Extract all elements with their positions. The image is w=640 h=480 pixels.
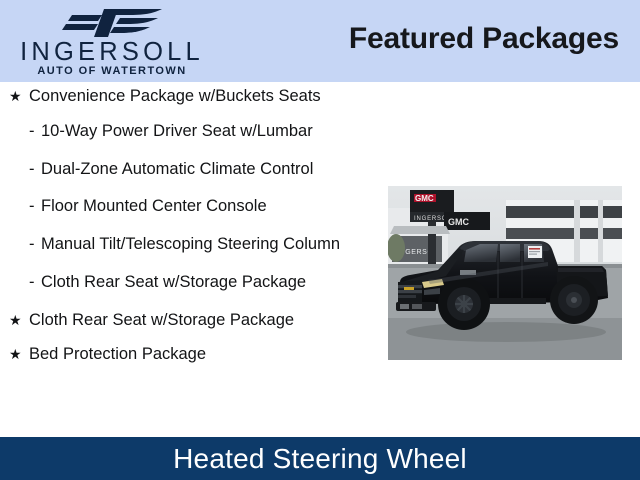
dash-icon: - — [29, 121, 35, 142]
dash-icon: - — [29, 272, 35, 293]
list-item-label: 10-Way Power Driver Seat w/Lumbar — [29, 121, 378, 142]
list-item: ★ Bed Protection Package — [0, 344, 378, 365]
page-title: Featured Packages — [349, 21, 619, 57]
footer-banner-text: Heated Steering Wheel — [173, 445, 467, 473]
dash-icon: - — [29, 159, 35, 180]
list-item: ★ Cloth Rear Seat w/Storage Package — [0, 310, 378, 331]
star-icon: ★ — [9, 344, 22, 364]
list-item-label: Cloth Rear Seat w/Storage Package — [29, 272, 378, 293]
footer-banner: Heated Steering Wheel — [0, 437, 640, 480]
vehicle-photo: INGERSO GMC INGERSOLL GMC — [388, 186, 622, 360]
list-item: - Manual Tilt/Telescoping Steering Colum… — [0, 234, 378, 255]
list-item-label: Floor Mounted Center Console — [29, 196, 378, 217]
list-item-label: Bed Protection Package — [29, 345, 206, 363]
list-item: - Dual-Zone Automatic Climate Control — [0, 159, 378, 180]
feature-list: ★ Convenience Package w/Buckets Seats - … — [0, 86, 378, 379]
star-icon: ★ — [9, 86, 22, 106]
dash-icon: - — [29, 234, 35, 255]
svg-text:GMC: GMC — [448, 217, 469, 227]
list-item: - 10-Way Power Driver Seat w/Lumbar — [0, 121, 378, 142]
svg-text:GMC: GMC — [415, 194, 434, 203]
list-item-label: Convenience Package w/Buckets Seats — [29, 87, 321, 105]
list-item: ★ Convenience Package w/Buckets Seats — [0, 86, 378, 107]
brand-name: INGERSOLL — [8, 40, 216, 66]
list-item-label: Cloth Rear Seat w/Storage Package — [29, 311, 294, 329]
list-item: - Floor Mounted Center Console — [0, 196, 378, 217]
dash-icon: - — [29, 196, 35, 217]
page-header: INGERSOLL AUTO OF WATERTOWN Featured Pac… — [0, 0, 640, 82]
dealer-logo: INGERSOLL AUTO OF WATERTOWN — [8, 2, 216, 80]
list-item-label: Manual Tilt/Telescoping Steering Column — [29, 234, 378, 255]
list-item: - Cloth Rear Seat w/Storage Package — [0, 272, 378, 293]
brand-tagline: AUTO OF WATERTOWN — [8, 66, 216, 77]
ingersoll-winged-i-emblem — [58, 5, 168, 41]
star-icon: ★ — [9, 310, 22, 330]
list-item-label: Dual-Zone Automatic Climate Control — [29, 159, 378, 180]
